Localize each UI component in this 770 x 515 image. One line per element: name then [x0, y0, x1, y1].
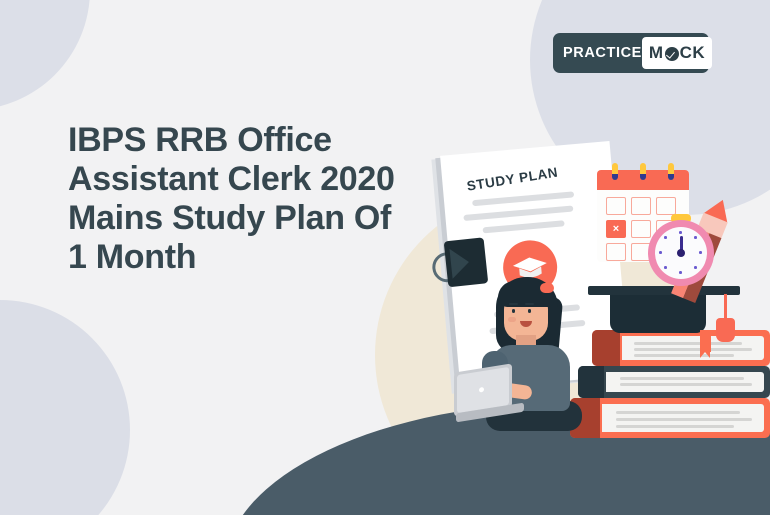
girl-hair-tie	[540, 283, 554, 293]
alarm-clock-icon	[648, 220, 714, 286]
calendar-cell-marked: ×	[606, 220, 626, 238]
book-page-line	[616, 418, 752, 421]
calendar-cell	[606, 243, 626, 261]
girl-eye	[528, 309, 531, 313]
page-title: IBPS RRB Office Assistant Clerk 2020 Mai…	[68, 121, 418, 277]
clock-tick	[659, 251, 662, 254]
book-page-line	[620, 383, 752, 386]
calendar-cell	[656, 197, 676, 215]
book-page-line	[616, 425, 734, 428]
check-in-circle-icon	[665, 47, 679, 61]
clock-tick	[664, 236, 667, 239]
clock-tick	[679, 271, 682, 274]
clock-center-pin	[677, 249, 685, 257]
girl-eye	[512, 309, 515, 313]
book-page-line	[634, 354, 734, 357]
book-page-line	[616, 411, 740, 414]
clock-ring	[648, 220, 714, 286]
book-pages	[622, 336, 764, 360]
practicemock-logo[interactable]: PRACTICE M CK	[553, 33, 709, 73]
notebook-placeholder-line	[472, 191, 574, 206]
calendar-ring	[640, 163, 646, 180]
clock-tick	[679, 231, 682, 234]
study-plan-heading: STUDY PLAN	[466, 165, 559, 194]
logo-mock-text: M CK	[649, 43, 705, 63]
book-page-line	[634, 342, 742, 345]
girl-cheek	[508, 317, 516, 322]
calendar-cell	[606, 197, 626, 215]
clock-tick	[694, 266, 697, 269]
logo-mock-m: M	[649, 43, 664, 63]
book-page-line	[620, 377, 744, 380]
graduation-cap-cord	[724, 294, 727, 320]
calendar-ring	[668, 163, 674, 180]
notebook-placeholder-line	[463, 205, 573, 221]
calendar-cell	[631, 197, 651, 215]
laptop	[454, 368, 524, 420]
banner-image: STUDY PLAN	[0, 0, 770, 515]
calendar-ring	[612, 163, 618, 180]
logo-mock-ck: CK	[680, 43, 706, 63]
logo-practice-text: PRACTICE	[563, 45, 642, 61]
clock-tick	[699, 251, 702, 254]
book-page-line	[634, 348, 752, 351]
clock-tick	[694, 236, 697, 239]
girl-eyebrow	[509, 303, 518, 305]
notebook-placeholder-line	[482, 220, 564, 233]
girl-eyebrow	[525, 303, 534, 305]
bookmark-ribbon	[700, 330, 711, 352]
clock-face	[655, 227, 707, 279]
logo-mock-box: M CK	[642, 37, 712, 69]
clock-tick	[664, 266, 667, 269]
graduation-cap-tassel	[716, 318, 735, 342]
